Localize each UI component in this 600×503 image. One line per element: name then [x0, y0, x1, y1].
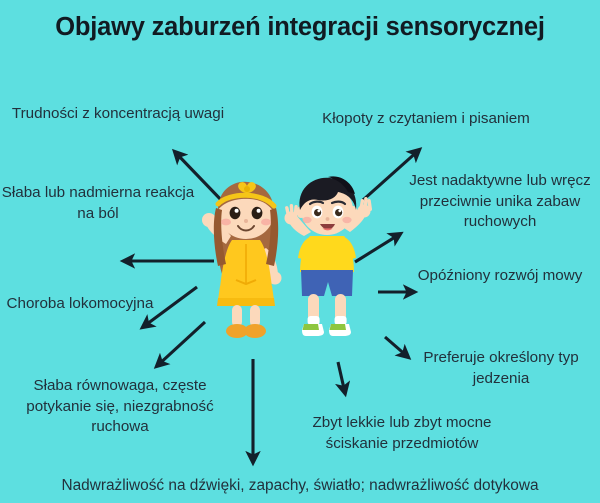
boy-figure — [285, 176, 373, 336]
symptom-label-grip: Zbyt lekkie lub zbyt mocne ściskanie prz… — [280, 413, 524, 454]
two-children-illustration — [196, 168, 388, 348]
symptom-label-hyperactivity: Jest nadaktywne lub wręcz przeciwnie uni… — [404, 171, 596, 233]
arrow-to-food — [385, 337, 408, 357]
girl-figure — [202, 182, 282, 338]
symptom-label-motion-sickness: Choroba lokomocyjna — [6, 294, 154, 315]
symptom-label-pain: Słaba lub nadmierna reakcja na ból — [0, 183, 196, 224]
arrow-to-grip — [338, 362, 345, 393]
symptom-label-sensitivity: Nadwrażliwość na dźwięki, zapachy, świat… — [0, 476, 600, 497]
symptom-label-balance: Słaba równowaga, częste potykanie się, n… — [0, 376, 240, 438]
symptom-label-speech: Opóźniony rozwój mowy — [414, 266, 586, 287]
symptom-label-food: Preferuje określony typ jedzenia — [410, 348, 592, 389]
symptom-label-concentration: Trudności z koncentracją uwagi — [6, 104, 230, 125]
symptom-label-reading-writing: Kłopoty z czytaniem i pisaniem — [292, 109, 560, 130]
infographic-poster: Objawy zaburzeń integracji sensorycznej — [0, 0, 600, 503]
